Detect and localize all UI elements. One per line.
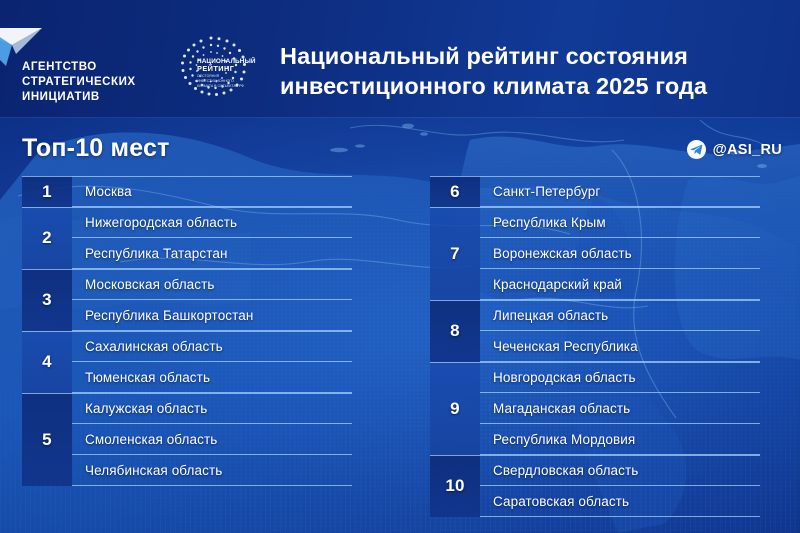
rank-group-8: 8Липецкая областьЧеченская Республика (430, 300, 760, 362)
rank-group-5: 5Калужская областьСмоленская областьЧеля… (22, 393, 352, 486)
region-row: Саратовская область (480, 486, 760, 517)
rank-group-4: 4Сахалинская областьТюменская область (22, 331, 352, 393)
rank-group-10: 10Свердловская областьСаратовская област… (430, 455, 760, 517)
rank-group-2: 2Нижегородская областьРеспублика Татарст… (22, 207, 352, 269)
rank-number: 10 (430, 455, 480, 517)
region-row: Смоленская область (72, 424, 352, 455)
telegram-icon[interactable] (687, 140, 706, 159)
rank-number: 3 (22, 269, 72, 331)
ranking-column-left: 1Москва2Нижегородская областьРеспублика … (22, 176, 352, 486)
asi-logo: АГЕНТСТВО СТРАТЕГИЧЕСКИХ ИНИЦИАТИВ (0, 22, 140, 108)
page-title-line1: Национальный рейтинг состояния (280, 43, 688, 69)
top-10-heading: Топ-10 мест (22, 134, 170, 163)
rank-group-3: 3Московская областьРеспублика Башкортост… (22, 269, 352, 331)
rank-group-9: 9Новгородская областьМагаданская область… (430, 362, 760, 455)
region-row: Краснодарский край (480, 269, 760, 300)
region-list: Новгородская областьМагаданская областьР… (480, 362, 760, 455)
region-list: Московская областьРеспублика Башкортоста… (72, 269, 352, 331)
region-list: Республика КрымВоронежская областьКрасно… (480, 207, 760, 300)
ranking-column-right: 6Санкт-Петербург7Республика КрымВоронежс… (430, 176, 760, 517)
emblem-sub1: СОСТОЯНИЯ (197, 74, 220, 78)
rank-number: 9 (430, 362, 480, 455)
region-list: Нижегородская областьРеспублика Татарста… (72, 207, 352, 269)
asi-word-line3: ИНИЦИАТИВ (22, 91, 100, 103)
page-title: Национальный рейтинг состояния инвестици… (280, 41, 790, 101)
region-row: Тюменская область (72, 362, 352, 393)
region-row: Сахалинская область (72, 331, 352, 362)
region-row: Новгородская область (480, 362, 760, 393)
rank-number: 4 (22, 331, 72, 393)
rank-number: 8 (430, 300, 480, 362)
rank-number: 6 (430, 176, 480, 207)
region-row: Республика Татарстан (72, 238, 352, 269)
region-row: Калужская область (72, 393, 352, 424)
region-row: Москва (72, 176, 352, 207)
rank-number: 1 (22, 176, 72, 207)
region-list: Калужская областьСмоленская областьЧеляб… (72, 393, 352, 486)
asi-word-line2: СТРАТЕГИЧЕСКИХ (22, 76, 136, 88)
region-row: Республика Мордовия (480, 424, 760, 455)
region-list: Москва (72, 176, 352, 207)
asi-wordmark: АГЕНТСТВО СТРАТЕГИЧЕСКИХ ИНИЦИАТИВ (22, 60, 136, 105)
region-row: Республика Крым (480, 207, 760, 238)
region-row: Чеченская Республика (480, 331, 760, 362)
poster-header: АГЕНТСТВО СТРАТЕГИЧЕСКИХ ИНИЦИАТИВ (0, 0, 800, 118)
page-title-line2: инвестиционного климата 2025 года (280, 71, 790, 101)
region-list: Липецкая областьЧеченская Республика (480, 300, 760, 362)
rank-group-7: 7Республика КрымВоронежская областьКрасн… (430, 207, 760, 300)
rank-group-1: 1Москва (22, 176, 352, 207)
emblem-sub3: КЛИМАТА В СУБЪЕКТАХ РФ (197, 84, 244, 88)
telegram-handle-group[interactable]: @ASI_RU (687, 140, 782, 159)
asi-word-line1: АГЕНТСТВО (22, 61, 97, 73)
rank-number: 7 (430, 207, 480, 300)
national-rating-emblem: НАЦИОНАЛЬНЫЙ РЕЙТИНГ СОСТОЯНИЯ ИНВЕСТИЦИ… (163, 26, 259, 112)
emblem-line2: РЕЙТИНГ (197, 64, 235, 73)
telegram-handle-label[interactable]: @ASI_RU (713, 142, 782, 158)
region-row: Челябинская область (72, 455, 352, 486)
rank-number: 5 (22, 393, 72, 486)
region-row: Воронежская область (480, 238, 760, 269)
rank-number: 2 (22, 207, 72, 269)
region-list: Санкт-Петербург (480, 176, 760, 207)
region-row: Московская область (72, 269, 352, 300)
rank-group-6: 6Санкт-Петербург (430, 176, 760, 207)
region-row: Свердловская область (480, 455, 760, 486)
region-row: Санкт-Петербург (480, 176, 760, 207)
region-row: Липецкая область (480, 300, 760, 331)
emblem-sub2: ИНВЕСТИЦИОННОГО (197, 79, 234, 83)
poster-canvas: АГЕНТСТВО СТРАТЕГИЧЕСКИХ ИНИЦИАТИВ (0, 0, 800, 533)
region-list: Свердловская областьСаратовская область (480, 455, 760, 517)
region-row: Республика Башкортостан (72, 300, 352, 331)
region-list: Сахалинская областьТюменская область (72, 331, 352, 393)
region-row: Нижегородская область (72, 207, 352, 238)
region-row: Магаданская область (480, 393, 760, 424)
